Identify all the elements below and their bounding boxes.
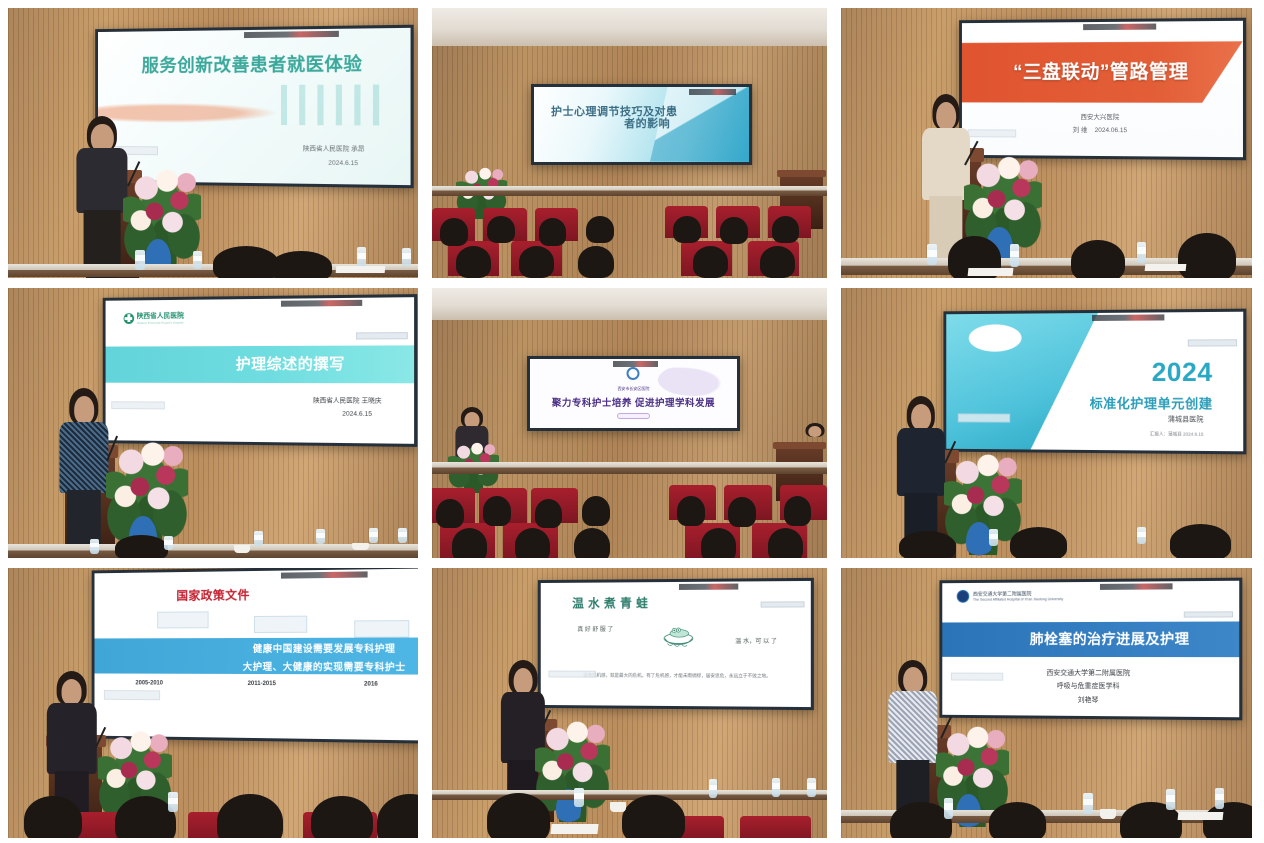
slide-8-caption-right: 温 水，可 以 了 bbox=[735, 636, 777, 645]
photo-cell-3[interactable]: “三盘联动”管路管理 西安大兴医院 刘 维 2024.06.15 bbox=[841, 8, 1252, 278]
timeline-label: 2016 bbox=[364, 682, 378, 688]
audience-head bbox=[1071, 240, 1124, 278]
audience-head bbox=[772, 216, 800, 243]
head-table-8 bbox=[432, 790, 827, 800]
audience-head bbox=[768, 528, 804, 558]
audience-head bbox=[115, 535, 168, 558]
projection-screen-9: 西安交通大学第二附属医院 The Second Affiliated Hospi… bbox=[939, 577, 1242, 720]
hospital-logo-group: 西安交通大学第二附属医院 The Second Affiliated Hospi… bbox=[956, 589, 1063, 603]
hospital-logo-icon bbox=[956, 589, 969, 602]
slide-taskbar bbox=[689, 89, 736, 95]
audience-head bbox=[519, 246, 555, 278]
slide-8: 温 水 煮 青 蛙 真 好 舒 服 了 温 水，可 以 了 没有 bbox=[540, 581, 810, 707]
water-bottle bbox=[90, 539, 99, 554]
slide-taskbar bbox=[1092, 314, 1164, 321]
hospital-logo-icon bbox=[123, 313, 133, 324]
audience-head bbox=[720, 217, 748, 244]
slide-2-footer: · · · · bbox=[534, 136, 749, 141]
audience-head bbox=[693, 246, 729, 278]
water-bottle bbox=[574, 788, 583, 807]
slide-4-date: 2024.6.15 bbox=[106, 409, 414, 418]
water-bottle bbox=[369, 528, 378, 543]
water-bottle bbox=[1215, 788, 1224, 809]
audience-head bbox=[1203, 802, 1252, 838]
slide-8-footnote: 没有危机感，就是最大的危机。有了危机感，才能未雨绸缪，居安思危，永远立于不败之地… bbox=[561, 673, 793, 680]
audience-head bbox=[456, 246, 492, 278]
projection-screen-5: 西安市长安区医院 聚力专科护士培养 促进护理学科发展 bbox=[527, 356, 740, 432]
audience-head bbox=[673, 216, 701, 243]
slide-2-title-line2: 者的影响 bbox=[534, 115, 749, 131]
photo-cell-2[interactable]: 护士心理调节技巧及对患 者的影响 · · · · bbox=[432, 8, 827, 278]
water-bottle bbox=[1010, 244, 1019, 266]
chart-graphic bbox=[281, 85, 390, 126]
audience-4 bbox=[8, 504, 418, 558]
slide-7-title: 国家政策文件 bbox=[94, 584, 418, 604]
projection-screen-2: 护士心理调节技巧及对患 者的影响 · · · · bbox=[531, 84, 752, 165]
audience-head bbox=[452, 528, 488, 558]
slide-taskbar bbox=[1099, 583, 1171, 590]
slide-7-banner-line1: 健康中国建设需要发展专科护理 bbox=[94, 641, 418, 655]
water-bottle bbox=[402, 248, 412, 266]
document-paper bbox=[1145, 264, 1187, 271]
frog-illustration-icon bbox=[646, 619, 711, 649]
water-bottle bbox=[135, 250, 145, 270]
slide-logo-badge bbox=[957, 414, 1009, 422]
water-bottle bbox=[168, 792, 178, 812]
slide-logo-badge bbox=[950, 673, 1002, 681]
document-paper bbox=[336, 266, 386, 273]
slide-4-title: 护理综述的撰写 bbox=[106, 353, 414, 375]
slide-corner-badge bbox=[1188, 339, 1237, 346]
slide-5-pill bbox=[617, 413, 650, 419]
water-bottle bbox=[398, 528, 407, 543]
audience-head bbox=[784, 496, 812, 526]
slide-5: 西安市长安区医院 聚力专科护士培养 促进护理学科发展 bbox=[530, 359, 737, 429]
audience-1 bbox=[8, 219, 418, 278]
projection-screen-6: 2024 标准化护理单元创建 蒲城县医院 汇报人：蒲城县 2024.6.15 bbox=[943, 308, 1246, 454]
photo-cell-9[interactable]: 西安交通大学第二附属医院 The Second Affiliated Hospi… bbox=[841, 568, 1252, 838]
slide-9-org-line3: 刘艳琴 bbox=[942, 694, 1239, 706]
photo-cell-5[interactable]: 西安市长安区医院 聚力专科护士培养 促进护理学科发展 bbox=[432, 288, 827, 558]
policy-timeline: 2005-2010 2011-2015 2016 bbox=[94, 680, 418, 688]
audience-head bbox=[760, 246, 796, 278]
hospital-logo-group: 陕西省人民医院 Shaanxi Provincial People's Hosp… bbox=[123, 311, 184, 325]
audience-head bbox=[483, 496, 511, 526]
audience-head bbox=[586, 216, 614, 243]
slide-taskbar bbox=[280, 571, 367, 578]
water-bottle bbox=[164, 536, 173, 550]
audience-head bbox=[622, 795, 685, 838]
slide-corner-badge bbox=[760, 601, 804, 607]
slide-logo-badge bbox=[104, 690, 161, 700]
water-bottle bbox=[1137, 527, 1146, 544]
audience-head bbox=[487, 793, 550, 838]
policy-card bbox=[157, 611, 208, 628]
audience-head bbox=[677, 496, 705, 526]
slide-taskbar bbox=[613, 361, 659, 367]
audience-head bbox=[436, 499, 464, 529]
slide-5-title: 聚力专科护士培养 促进护理学科发展 bbox=[530, 395, 737, 409]
slide-taskbar bbox=[678, 583, 738, 589]
slide-9-header-org-en: The Second Affiliated Hospital of Xi'an … bbox=[973, 597, 1063, 602]
document-paper bbox=[550, 824, 598, 834]
row-table bbox=[432, 462, 827, 474]
hospital-logo-icon bbox=[627, 367, 640, 380]
audience-head bbox=[890, 802, 952, 838]
slide-7-banner-line2: 大护理、大健康的实现需要专科护士 bbox=[94, 659, 418, 674]
paper-cup bbox=[610, 802, 626, 812]
audience-6 bbox=[841, 509, 1252, 558]
water-bottle bbox=[1137, 242, 1146, 263]
projection-screen-8: 温 水 煮 青 蛙 真 好 舒 服 了 温 水，可 以 了 没有 bbox=[538, 578, 814, 710]
water-bottle bbox=[927, 244, 936, 265]
water-bottle bbox=[709, 779, 718, 798]
slide-3-date: 2024.06.15 bbox=[1095, 127, 1128, 134]
water-bottle bbox=[807, 778, 816, 797]
audience-head bbox=[213, 246, 279, 278]
audience-3 bbox=[841, 208, 1252, 278]
audience-2 bbox=[432, 154, 827, 278]
slide-logo-badge bbox=[112, 401, 165, 410]
slide-logo-badge bbox=[548, 670, 595, 677]
water-bottle bbox=[772, 778, 781, 797]
slide-4: 陕西省人民医院 Shaanxi Provincial People's Hosp… bbox=[106, 297, 414, 443]
audience-head bbox=[311, 796, 373, 838]
slide-corner-badge bbox=[1184, 611, 1233, 618]
photo-cell-8[interactable]: 温 水 煮 青 蛙 真 好 舒 服 了 温 水，可 以 了 没有 bbox=[432, 568, 827, 838]
slide-taskbar bbox=[244, 31, 339, 38]
timeline-label: 2011-2015 bbox=[247, 681, 275, 687]
audience-head bbox=[24, 796, 81, 838]
slide-8-caption-left: 真 好 舒 服 了 bbox=[577, 624, 613, 633]
audience-head bbox=[535, 499, 563, 529]
seat bbox=[740, 816, 811, 838]
paper-cup bbox=[352, 543, 368, 551]
water-bottle bbox=[357, 247, 367, 267]
document-paper bbox=[1178, 812, 1224, 820]
hospital-logo-icon bbox=[963, 321, 1027, 354]
slide-6: 2024 标准化护理单元创建 蒲城县医院 汇报人：蒲城县 2024.6.15 bbox=[946, 311, 1243, 451]
photo-cell-1[interactable]: 服务创新改善患者就医体验 陕西省人民医院 承昂 2024.6.15 bbox=[8, 8, 418, 278]
paper-cup bbox=[1100, 809, 1116, 819]
water-bottle bbox=[989, 529, 998, 546]
timeline-label: 2005-2010 bbox=[135, 681, 163, 687]
photo-cell-6[interactable]: 2024 标准化护理单元创建 蒲城县医院 汇报人：蒲城县 2024.6.15 bbox=[841, 288, 1252, 558]
slide-taskbar bbox=[281, 300, 363, 307]
slide-3-org: 西安大兴医院 bbox=[962, 110, 1243, 121]
audience-head bbox=[728, 497, 756, 527]
audience-head bbox=[270, 251, 332, 278]
paper-cup bbox=[234, 545, 250, 553]
ceiling bbox=[432, 288, 827, 320]
audience-head bbox=[539, 218, 567, 245]
audience-head bbox=[1178, 233, 1236, 278]
slide-6-year: 2024 bbox=[946, 356, 1243, 388]
slide-9-title: 肺栓塞的治疗进展及护理 bbox=[942, 628, 1239, 648]
water-bottle bbox=[316, 529, 325, 544]
document-paper bbox=[968, 268, 1014, 276]
audience-head bbox=[515, 528, 551, 558]
slide-corner-badge bbox=[356, 332, 407, 340]
photo-collage: 服务创新改善患者就医体验 陕西省人民医院 承昂 2024.6.15 bbox=[0, 0, 1264, 843]
photo-cell-4[interactable]: 陕西省人民医院 Shaanxi Provincial People's Hosp… bbox=[8, 288, 418, 558]
audience-head bbox=[989, 802, 1047, 838]
slide-5-header-org: 西安市长安区医院 bbox=[530, 386, 737, 392]
audience-head bbox=[578, 246, 614, 278]
slide-9-org-line2: 呼吸与危重症医学科 bbox=[942, 681, 1239, 692]
audience-head bbox=[377, 794, 418, 838]
audience-head bbox=[440, 218, 468, 245]
row-table bbox=[432, 186, 827, 196]
slide-3-presenter: 刘 维 bbox=[1073, 127, 1088, 134]
audience-head bbox=[701, 528, 737, 558]
audience-7 bbox=[8, 746, 418, 838]
slide-6-title: 标准化护理单元创建 bbox=[946, 392, 1243, 412]
audience-8 bbox=[432, 752, 827, 838]
audience-5 bbox=[432, 423, 827, 558]
slide-1-title: 服务创新改善患者就医体验 bbox=[98, 50, 410, 78]
slide-4-header-org: 陕西省人民医院 bbox=[137, 311, 184, 321]
water-bottle bbox=[944, 798, 953, 819]
ceiling bbox=[432, 8, 827, 46]
audience-9 bbox=[841, 757, 1252, 838]
audience-head bbox=[115, 796, 177, 838]
slide-3-title: “三盘联动”管路管理 bbox=[962, 56, 1243, 84]
water-bottle bbox=[1166, 789, 1175, 810]
policy-card bbox=[354, 620, 409, 637]
audience-head bbox=[217, 794, 283, 838]
water-bottle bbox=[1083, 793, 1092, 814]
slide-9: 西安交通大学第二附属医院 The Second Affiliated Hospi… bbox=[942, 581, 1239, 718]
audience-head bbox=[899, 531, 957, 558]
audience-head bbox=[574, 528, 610, 558]
audience-head bbox=[582, 496, 610, 526]
slide-4-header-org-en: Shaanxi Provincial People's Hospital bbox=[137, 321, 184, 325]
photo-cell-7[interactable]: 国家政策文件 健康中国建设需要发展专科护理 大护理、大健康的实现需要专科护士 2… bbox=[8, 568, 418, 838]
slide-taskbar bbox=[1083, 23, 1156, 30]
audience-head bbox=[487, 216, 515, 243]
policy-card bbox=[254, 616, 307, 633]
audience-head bbox=[1010, 527, 1068, 558]
water-bottle bbox=[254, 531, 263, 546]
water-bottle bbox=[193, 251, 203, 269]
audience-head bbox=[1170, 524, 1232, 558]
slide-2: 护士心理调节技巧及对患 者的影响 · · · · bbox=[534, 87, 749, 162]
